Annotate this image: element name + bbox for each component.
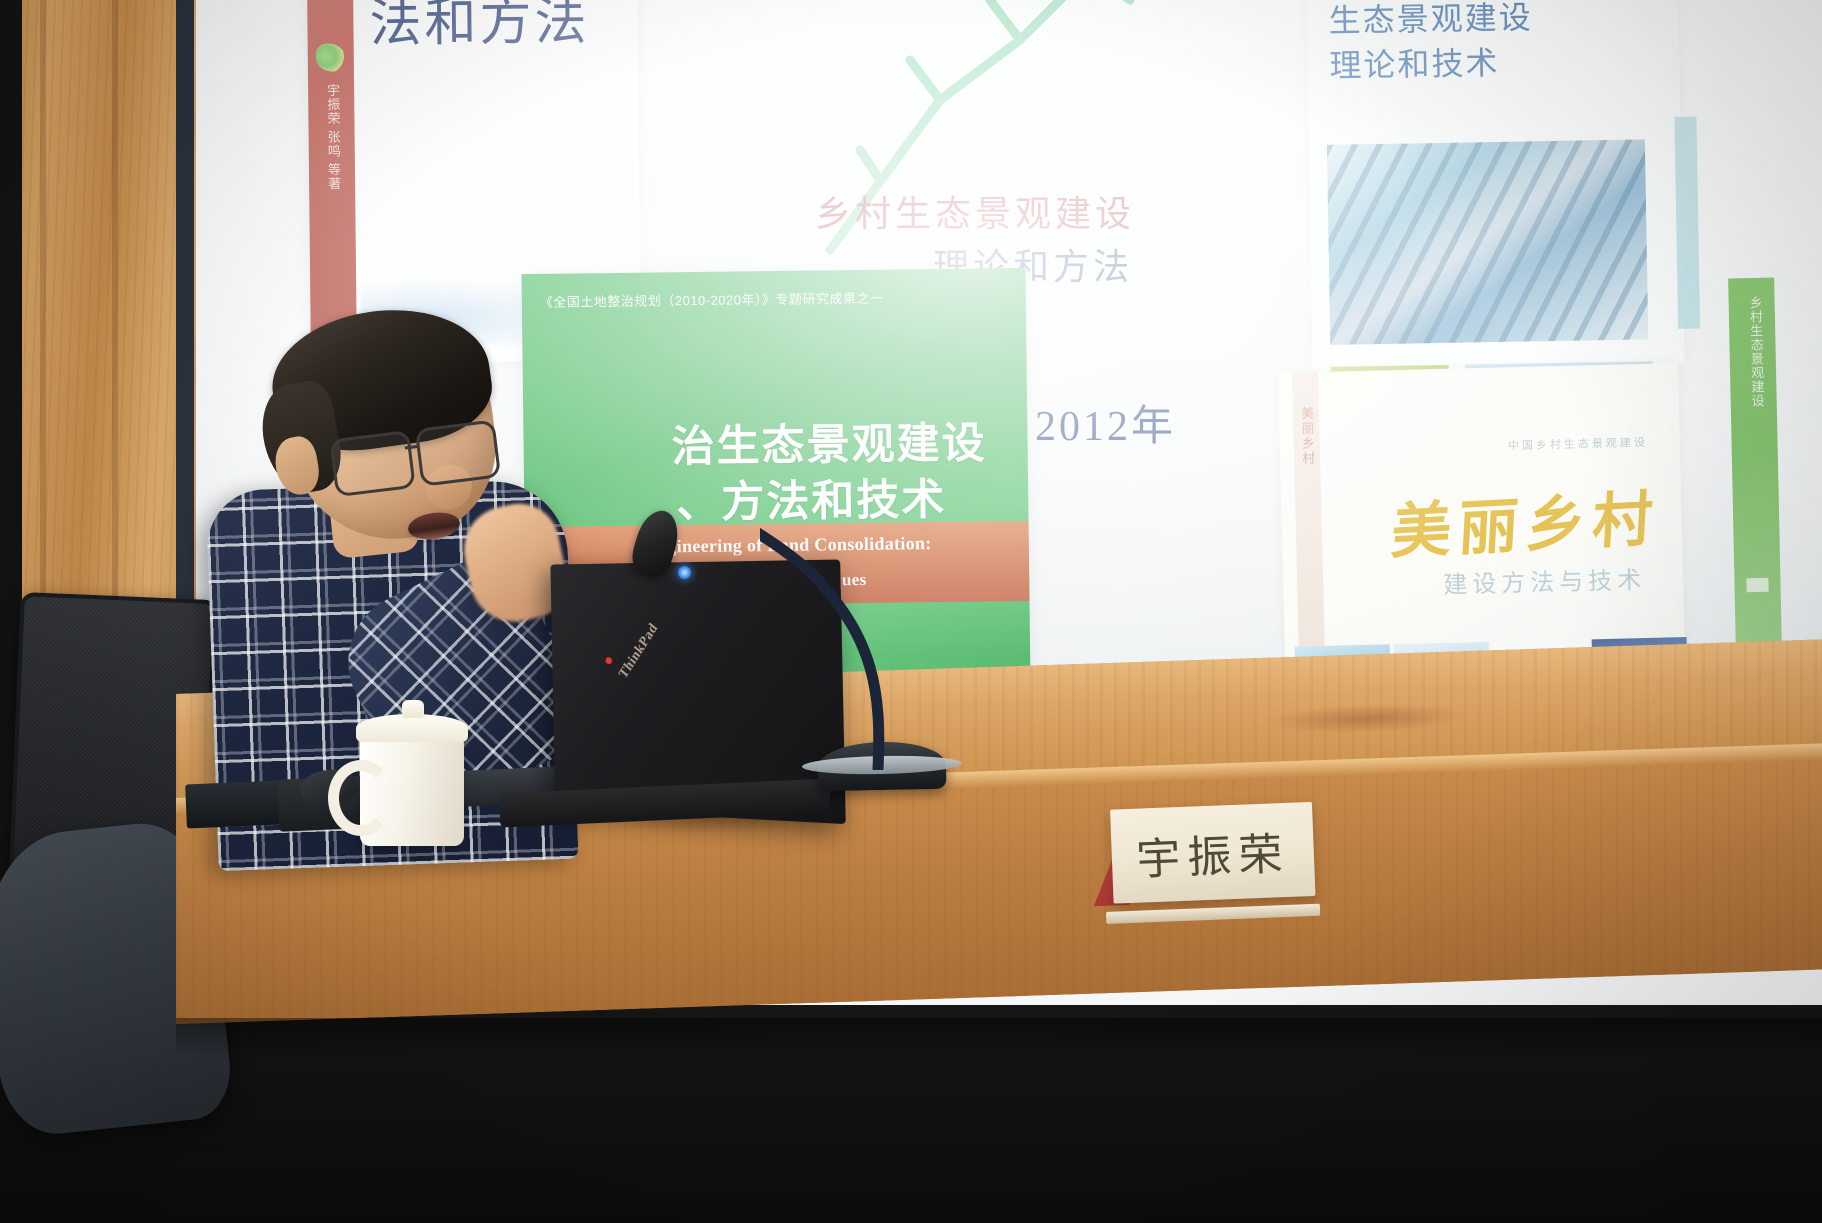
mug-lid-knob (402, 700, 424, 718)
book-b-photo-aerial (1327, 139, 1648, 345)
placard-face: 宇振荣 (1110, 802, 1315, 904)
desk-cast-shadow (176, 1018, 1822, 1058)
book-a-spine: 宇振荣 张鸣 等著 中国 (305, 0, 357, 364)
coffee-mug-icon (360, 738, 464, 846)
microphone-gooseneck (760, 520, 940, 770)
book-a-spine-logo-icon (316, 43, 346, 71)
book-c-subtitle: 建设方法与技术 (1443, 560, 1647, 600)
lecture-photo-scene: 宇振荣 张鸣 等著 中国 法和方法 乡村生态景观建设 理论和方法 2012年 生… (0, 0, 1822, 1223)
book-cover-d-spine: 乡村生态景观建设 (1728, 278, 1782, 651)
book-a-spine-authors: 宇振荣 张鸣 等著 (321, 83, 344, 190)
book-c-title: 美丽乡村 (1389, 470, 1662, 571)
laptop-brand-label: ThinkPad (617, 621, 662, 683)
name-placard: 宇振荣 (1098, 802, 1316, 916)
book-c-top-line: 中国乡村生态景观建设 (1508, 434, 1648, 453)
book-d-spine-text: 乡村生态景观建设 (1738, 296, 1766, 409)
placard-name-text: 宇振荣 (1135, 818, 1290, 888)
glasses-lens-left (329, 430, 415, 497)
thinkpad-red-dot-icon (605, 657, 612, 664)
book-b-side-tab (1674, 116, 1700, 328)
projection-year: 2012年 (1035, 392, 1176, 453)
mug-handle (328, 760, 394, 836)
book-b-title-line1: 生态景观建设 (1328, 0, 1533, 44)
book-a-title: 法和方法 (369, 0, 590, 56)
slide-kicker: 《全国土地整治规划（2010-2020年）》专题研究成果之一 (540, 288, 884, 311)
microphone-led-indicator (678, 566, 691, 579)
mug-lid (356, 714, 468, 742)
book-b-title-line2: 理论和技术 (1329, 41, 1534, 90)
projection-title-line1: 乡村生态景观建设 (815, 194, 1135, 234)
book-d-spine-mark (1746, 578, 1768, 592)
book-cover-b: 生态景观建设 理论和技术 (1303, 0, 1685, 371)
book-b-title: 生态景观建设 理论和技术 (1328, 0, 1534, 90)
book-c-spine-text: 美丽乡村 (1297, 406, 1317, 466)
glasses-lens-right (415, 419, 501, 486)
